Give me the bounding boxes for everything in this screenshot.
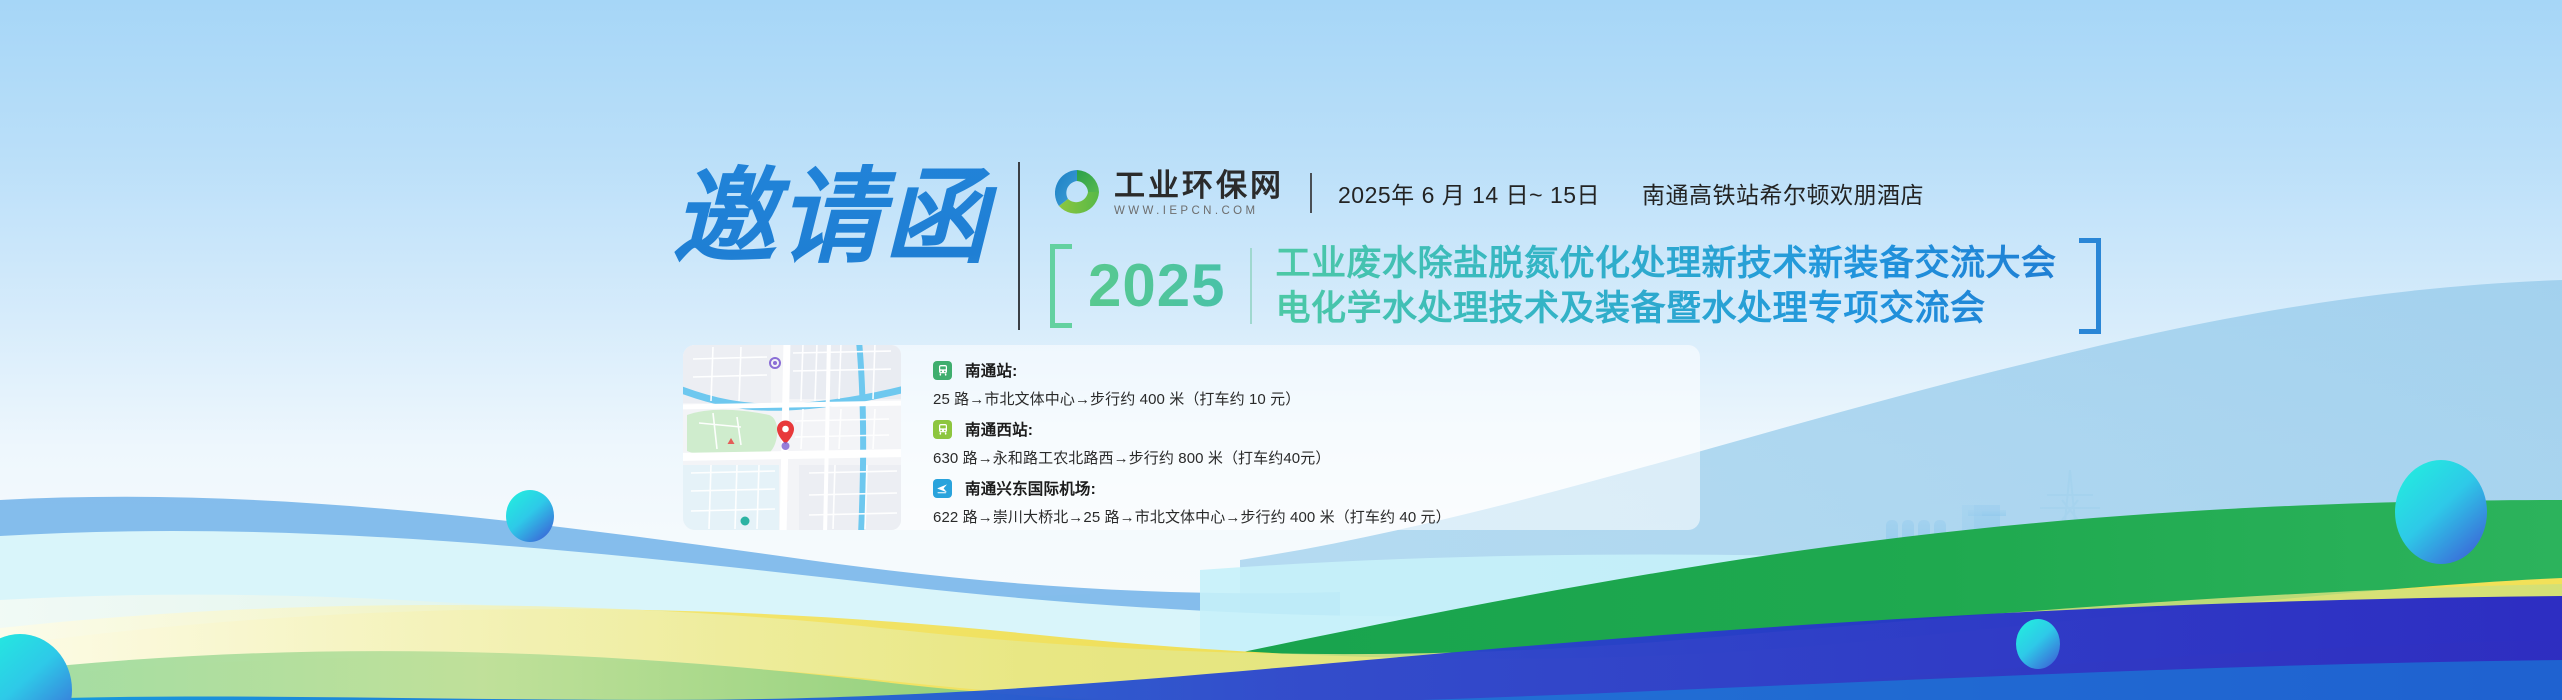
logo-meta-divider: [1310, 173, 1312, 213]
train-icon: [933, 420, 952, 439]
industrial-silhouette: [1886, 470, 2204, 610]
conference-title-line-2: 电化学水处理技术及装备暨水处理专项交流会: [1276, 286, 2057, 331]
year-title-divider: [1250, 248, 1252, 324]
train-icon: [933, 361, 952, 380]
invitation-banner: 邀请函: [0, 0, 2562, 700]
conference-title-line-1: 工业废水除盐脱氮优化处理新技术新装备交流大会: [1276, 241, 2057, 286]
venue-map[interactable]: [683, 345, 901, 530]
decorative-sphere: [2016, 619, 2060, 669]
ring-logo-icon: [1050, 166, 1104, 220]
brand-logo[interactable]: 工业环保网 WWW.IEPCN.COM 2025年 6 月 14 日~ 15日 …: [1050, 162, 2101, 224]
transit-info-card: 南通站: 25 路→市北文体中心→步行约 400 米（打车约 10 元）: [683, 345, 1700, 530]
decorative-sphere: [2395, 460, 2487, 564]
route-detail: 622 路→崇川大桥北→25 路→市北文体中心→步行约 400 米（打车约 40…: [933, 506, 1700, 527]
event-venue: 南通高铁站希尔顿欢朋酒店: [1642, 176, 1924, 210]
route-detail: 25 路→市北文体中心→步行约 400 米（打车约 10 元）: [933, 388, 1700, 409]
conference-title-block: 2025 工业废水除盐脱氮优化处理新技术新装备交流大会 电化学水处理技术及装备暨…: [1050, 238, 2101, 334]
right-bracket-icon: [2079, 238, 2101, 334]
left-bracket-icon: [1050, 244, 1072, 328]
banner-header: 邀请函: [672, 158, 2101, 334]
airplane-icon: [933, 479, 952, 498]
conference-year: 2025: [1088, 251, 1225, 321]
header-divider: [1018, 162, 1020, 330]
decorative-sphere: [0, 634, 72, 700]
decorative-sphere: [506, 490, 554, 542]
list-item: 南通兴东国际机场: 622 路→崇川大桥北→25 路→市北文体中心→步行约 40…: [933, 477, 1700, 527]
transit-route-list: 南通站: 25 路→市北文体中心→步行约 400 米（打车约 10 元）: [901, 345, 1700, 530]
list-item: 南通站: 25 路→市北文体中心→步行约 400 米（打车约 10 元）: [933, 359, 1700, 409]
logo-name: 工业环保网: [1114, 169, 1284, 203]
list-item: 南通西站: 630 路→永和路工农北路西→步行约 800 米（打车约40元）: [933, 418, 1700, 468]
route-station-name: 南通西站:: [965, 418, 1033, 440]
logo-url: WWW.IEPCN.COM: [1114, 204, 1284, 218]
page-title: 邀请函: [672, 158, 1006, 334]
route-station-name: 南通站:: [965, 359, 1017, 381]
event-date: 2025年 6 月 14 日~ 15日: [1338, 176, 1600, 210]
route-detail: 630 路→永和路工农北路西→步行约 800 米（打车约40元）: [933, 447, 1700, 468]
route-station-name: 南通兴东国际机场:: [965, 477, 1096, 499]
